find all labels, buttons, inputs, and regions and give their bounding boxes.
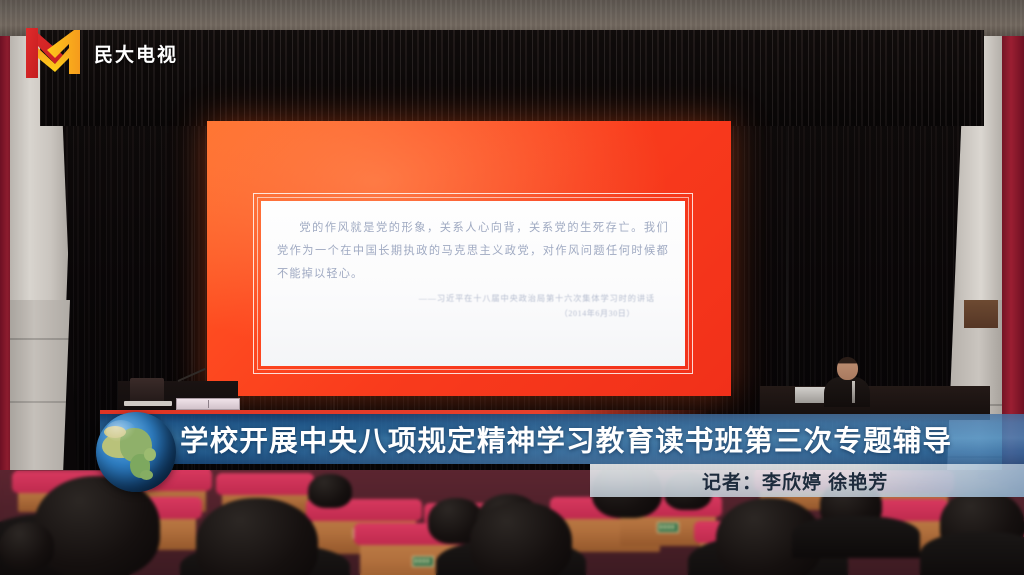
banner-accent-line: [100, 410, 1024, 414]
microphone-stage-right: [852, 381, 855, 403]
seat-number-plate: [412, 556, 434, 567]
laptop: [130, 378, 164, 402]
projection-screen: 党的作风就是党的形象，关系人心向背，关系党的生死存亡。我们党作为一个在中国长期执…: [207, 121, 731, 396]
mindatv-logo-icon: [22, 24, 84, 82]
slide-date-text: （2014年6月30日）: [277, 308, 669, 319]
news-headline: 学校开展中央八项规定精神学习教育读书班第三次专题辅导: [180, 419, 952, 460]
seat-number-plate: [657, 522, 679, 533]
audience-member-head: [470, 502, 572, 575]
lower-third-banner: 学校开展中央八项规定精神学习教育读书班第三次专题辅导: [100, 414, 1024, 464]
audience-member-head: [196, 498, 318, 575]
speaker-torso: [824, 377, 870, 407]
right-side-panel: [964, 300, 998, 328]
audience-member-head: [308, 474, 352, 508]
audience-member: [792, 516, 920, 558]
audience-member-head: [0, 522, 54, 570]
speaker-head: [837, 357, 858, 380]
slide-attribution-text: ——习近平在十八届中央政治局第十六次集体学习时的讲话: [277, 292, 669, 304]
audience-member: [920, 532, 1024, 575]
reporter-subbar: 记者：李欣婷 徐艳芳: [590, 464, 1024, 497]
desk-nameplate: [176, 398, 240, 410]
channel-name-label: 民大电视: [94, 40, 178, 67]
curtain-valance: [40, 30, 984, 126]
laptop-base: [124, 401, 172, 406]
seated-speaker: [824, 357, 870, 405]
slide-content-panel: 党的作风就是党的形象，关系人心向背，关系党的生死存亡。我们党作为一个在中国长期执…: [261, 201, 685, 366]
channel-logo-bug: 民大电视: [22, 24, 178, 82]
slide-quote-text: 党的作风就是党的形象，关系人心向背，关系党的生死存亡。我们党作为一个在中国长期执…: [277, 217, 669, 286]
reporter-credit: 记者：李欣婷 徐艳芳: [702, 467, 888, 494]
video-frame: 党的作风就是党的形象，关系人心向背，关系党的生死存亡。我们党作为一个在中国长期执…: [0, 0, 1024, 575]
earth-globe-icon: [96, 412, 176, 492]
